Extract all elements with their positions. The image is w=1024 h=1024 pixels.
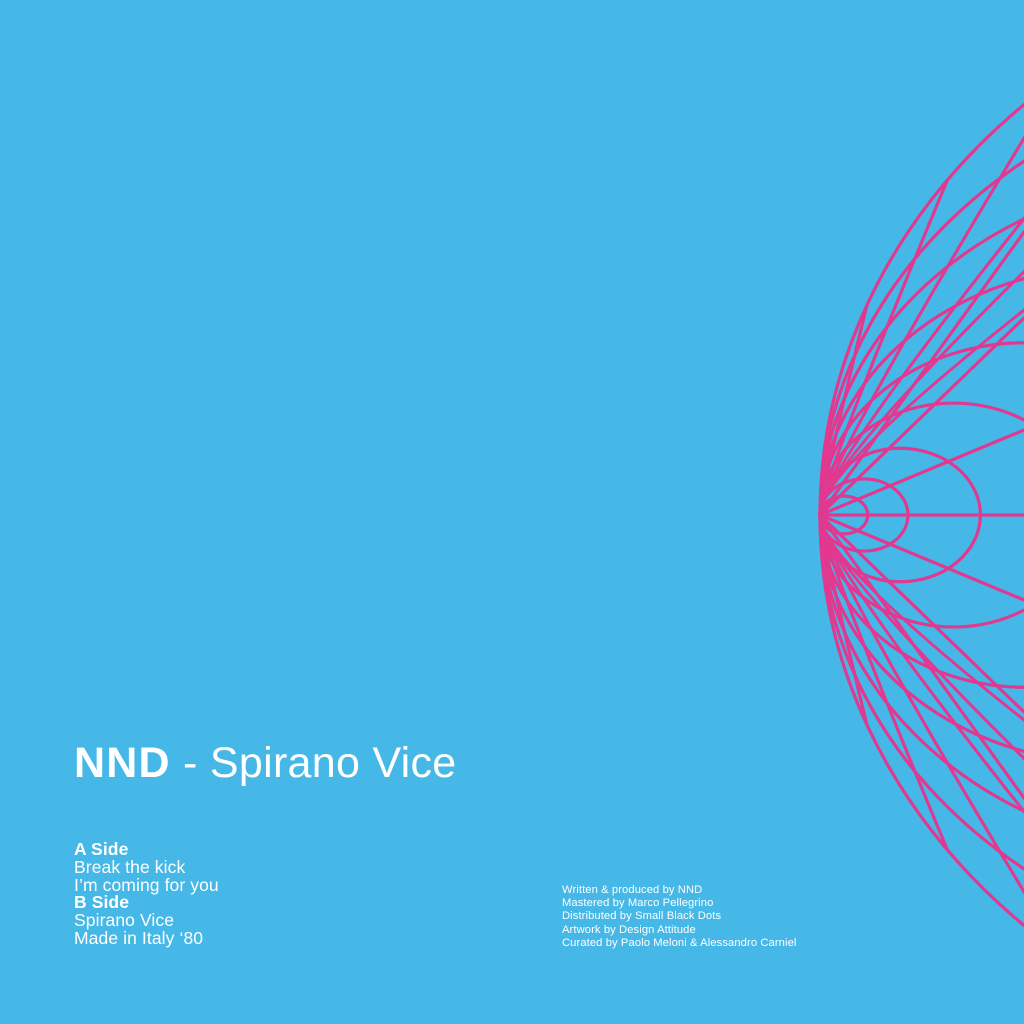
credit-line: Artwork by Design Attitude <box>562 924 797 937</box>
tracklist-item: Made in Italy ‘80 <box>74 930 219 948</box>
artist-name: NND <box>74 739 171 787</box>
credit-line: Mastered by Marco Pellegrino <box>562 897 797 910</box>
credits-block: Written & produced by NNDMastered by Mar… <box>562 884 797 950</box>
page-title: NND - Spirano Vice <box>74 742 457 785</box>
credit-line: Distributed by Small Black Dots <box>562 910 797 923</box>
credit-line: Curated by Paolo Meloni & Alessandro Car… <box>562 937 797 950</box>
album-sleeve: NND - Spirano Vice A SideBreak the kickI… <box>0 0 1024 1024</box>
title-separator: - <box>171 739 210 787</box>
text-layer: NND - Spirano Vice A SideBreak the kickI… <box>0 0 1024 1024</box>
release-name: Spirano Vice <box>210 739 457 787</box>
credit-line: Written & produced by NND <box>562 884 797 897</box>
tracklist: A SideBreak the kickI’m coming for youB … <box>74 841 219 948</box>
tracklist-item: Break the kick <box>74 859 219 877</box>
